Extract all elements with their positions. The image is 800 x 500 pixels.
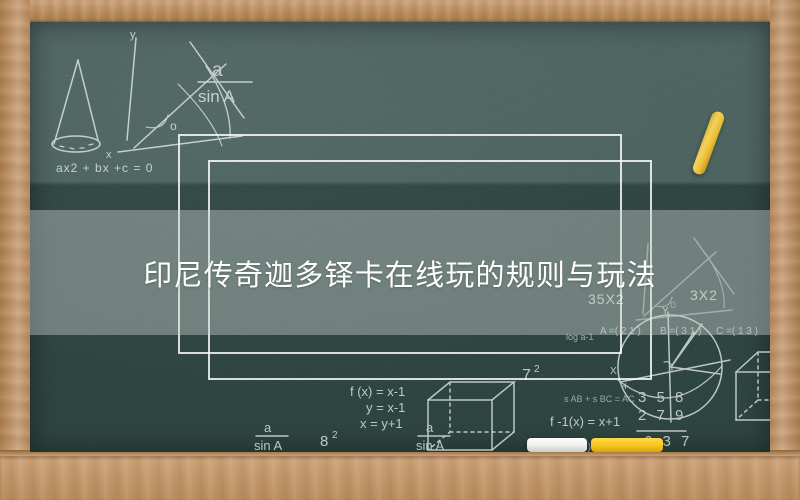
chalk-seven-base: 7 xyxy=(522,367,531,384)
chalk-fx-line-3: x = y+1 xyxy=(360,416,403,431)
page-title: 印尼传奇迦多铎卡在线玩的规则与玩法 xyxy=(143,252,656,294)
chalk-frac-sinA-1: sin A xyxy=(254,438,283,452)
frame-top-rail xyxy=(0,0,800,22)
blackboard-surface: a sin A ax2 + bx +c = 0 y x o o f (x) = … xyxy=(30,22,770,452)
chalk-sum-operator: + xyxy=(622,379,629,393)
chalk-sinA-denominator: sin A xyxy=(198,87,236,106)
cone-drawing xyxy=(52,60,100,152)
chalk-frac-a-1: a xyxy=(264,420,272,435)
chalk-eight-exponent: 2 xyxy=(332,430,338,441)
chalk-frac-a-2: a xyxy=(426,420,434,435)
chalk-inverse-function: f -1(x) = x+1 xyxy=(550,414,620,429)
chalk-frac-sinA-2: sin A xyxy=(416,438,445,452)
chalk-axis-y-left: y xyxy=(130,29,136,41)
chalk-axis-x-right: X xyxy=(610,366,617,377)
cube-drawing-right xyxy=(736,352,770,420)
title-overlay-band: 印尼传奇迦多铎卡在线玩的规则与玩法 xyxy=(30,210,770,335)
chalk-a-numerator: a xyxy=(212,60,223,81)
chalk-eight-base: 8 xyxy=(320,433,328,450)
chalkboard-banner: a sin A ax2 + bx +c = 0 y x o o f (x) = … xyxy=(0,0,800,500)
chalk-tray xyxy=(0,456,800,500)
frame-left-rail xyxy=(0,0,30,500)
frame-right-rail xyxy=(770,0,800,500)
chalk-vector-identity: s AB + s BC = AC xyxy=(564,394,635,404)
chalk-angle-label-left: o xyxy=(170,119,177,133)
chalk-sum-row-1: 3 5 8 xyxy=(638,389,686,406)
chalk-sum-row-2: 2 7 9 xyxy=(638,407,686,424)
chalk-fx-line-1: f (x) = x-1 xyxy=(350,384,405,399)
chalk-quadratic-equation: ax2 + bx +c = 0 xyxy=(56,161,153,175)
yellow-chalk-icon xyxy=(591,438,663,452)
chalk-fx-line-2: y = x-1 xyxy=(366,400,405,415)
chalk-seven-exponent: 2 xyxy=(534,364,540,375)
chalk-axis-x-left: x xyxy=(106,149,112,161)
white-chalk-icon xyxy=(527,438,587,452)
